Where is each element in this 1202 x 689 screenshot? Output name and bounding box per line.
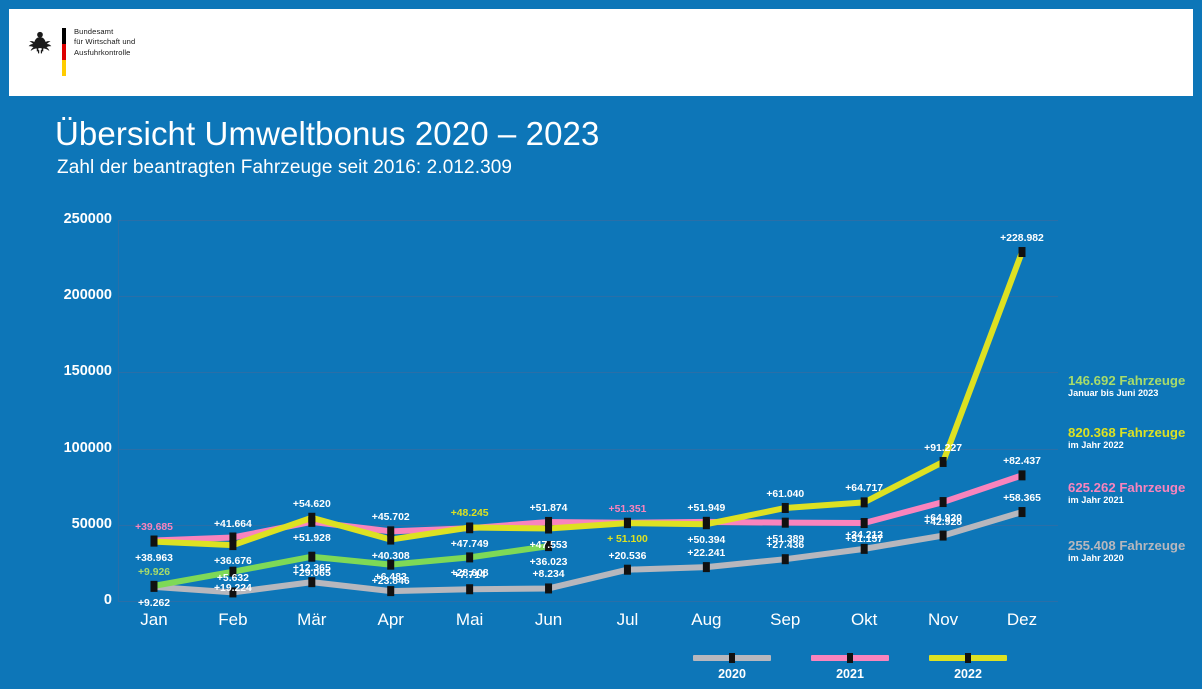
data-point-marker [1019,247,1026,257]
data-point-label: +51.874 [530,503,568,514]
data-point-label: +36.676 [214,556,252,567]
data-point-label: +82.437 [1003,456,1041,467]
data-point-marker [1019,507,1026,517]
data-point-marker [624,518,631,528]
data-point-marker [387,535,394,545]
legend-swatch [811,655,889,661]
chart: 050000100000150000200000250000 JanFebMär… [0,0,1202,689]
page-root: Bundesamt für Wirtschaft und Ausfuhrkont… [0,0,1202,689]
data-point-label: +22.241 [687,548,725,559]
annotation-period: im Jahr 2021 [1068,495,1185,506]
data-point-label: +58.365 [1003,493,1041,504]
legend-swatch [693,655,771,661]
data-point-marker [387,586,394,596]
data-point-label: +40.308 [372,551,410,562]
legend-label: 2022 [908,667,1028,681]
data-point-marker [308,552,315,562]
data-point-label: +45.702 [372,512,410,523]
data-point-label: +41.664 [214,519,252,530]
legend-swatch [929,655,1007,661]
series-annotation: 625.262 Fahrzeugeim Jahr 2021 [1068,480,1185,506]
annotation-value: 146.692 Fahrzeuge [1068,373,1185,388]
data-point-marker [151,537,158,547]
data-point-marker [1019,470,1026,480]
series-annotation: 820.368 Fahrzeugeim Jahr 2022 [1068,425,1185,451]
data-point-label: +23.846 [372,576,410,587]
data-point-label: +38.963 [135,553,173,564]
annotation-period: Januar bis Juni 2023 [1068,388,1185,399]
data-point-label: +9.926 [138,567,170,578]
data-point-label: +51.928 [293,533,331,544]
legend-item-2022[interactable]: 2022 [908,655,1028,681]
data-point-marker [940,497,947,507]
series-annotation: 146.692 FahrzeugeJanuar bis Juni 2023 [1068,373,1185,399]
data-point-label: +61.040 [766,489,804,500]
data-point-label: +51.389 [766,534,804,545]
legend-item-2020[interactable]: 2020 [672,655,792,681]
annotation-period: im Jahr 2022 [1068,440,1185,451]
data-point-marker [703,562,710,572]
data-point-label: +19.224 [214,583,252,594]
data-point-label: +54.620 [293,499,331,510]
data-point-marker [466,584,473,594]
data-point-label: +51.157 [845,534,883,545]
data-point-label: +20.536 [609,551,647,562]
data-point-marker [782,518,789,528]
data-point-marker [861,518,868,528]
data-point-label: +47.553 [530,540,568,551]
data-point-label: +51.949 [687,503,725,514]
data-point-marker [545,583,552,593]
data-point-label: +50.394 [687,535,725,546]
data-point-marker [624,565,631,575]
data-point-marker [308,513,315,523]
data-point-label: +36.023 [530,557,568,568]
data-point-label: +9.262 [138,598,170,609]
data-point-marker [151,581,158,591]
annotation-value: 255.408 Fahrzeuge [1068,538,1185,553]
data-point-marker [466,552,473,562]
data-point-label: +47.749 [451,539,489,550]
legend-label: 2020 [672,667,792,681]
data-point-marker [940,457,947,467]
series-line [154,252,1022,545]
data-point-label: +28.608 [451,568,489,579]
annotation-period: im Jahr 2020 [1068,553,1185,564]
data-point-label: +48.245 [451,508,489,519]
data-point-marker [940,531,947,541]
series-lines [0,0,1202,689]
data-point-marker [861,544,868,554]
data-point-marker [861,497,868,507]
data-point-label: +29.065 [293,568,331,579]
data-point-label: +64.717 [845,483,883,494]
data-point-marker [782,554,789,564]
legend-label: 2021 [790,667,910,681]
data-point-label: +39.685 [135,522,173,533]
data-point-label: +91.227 [924,443,962,454]
data-point-label: +64.920 [924,513,962,524]
data-point-marker [545,524,552,534]
data-point-marker [229,540,236,550]
data-point-label: +228.982 [1000,233,1044,244]
data-point-marker [782,503,789,513]
legend-item-2021[interactable]: 2021 [790,655,910,681]
series-annotation: 255.408 Fahrzeugeim Jahr 2020 [1068,538,1185,564]
annotation-value: 820.368 Fahrzeuge [1068,425,1185,440]
data-point-marker [703,519,710,529]
data-point-label: +8.234 [532,569,564,580]
data-point-marker [466,522,473,532]
annotation-value: 625.262 Fahrzeuge [1068,480,1185,495]
data-point-label: + 51.100 [607,534,648,545]
data-point-label: +51.351 [609,504,647,515]
